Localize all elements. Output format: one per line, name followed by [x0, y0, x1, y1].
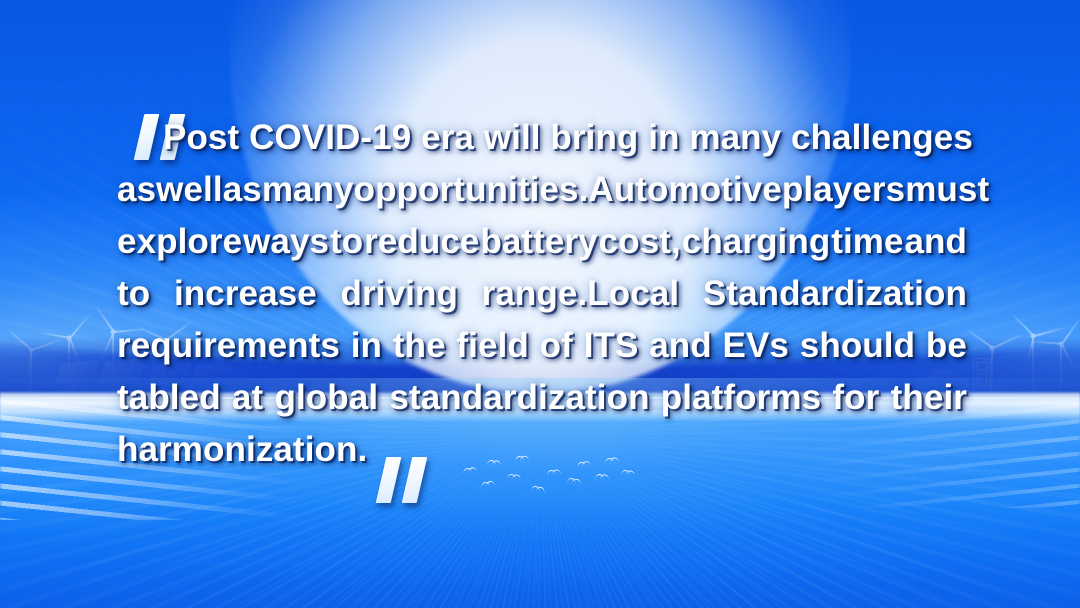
- quote-word: Standardization: [703, 268, 967, 320]
- quote-word: time: [831, 216, 903, 268]
- quote-word: charging: [682, 216, 831, 268]
- quote-word: increase: [174, 268, 317, 320]
- quote-word: reduce: [364, 216, 479, 268]
- quote-word: ways: [243, 216, 329, 268]
- turbine-blade: [1025, 336, 1035, 365]
- quote-word: for: [832, 372, 879, 424]
- bird-icon: [480, 481, 490, 489]
- turbine-blade: [1032, 340, 1062, 345]
- bird-icon: [531, 485, 541, 492]
- turbine-hub: [990, 346, 995, 351]
- turbine-blade: [968, 330, 994, 349]
- quote-word: and: [649, 320, 712, 372]
- quote-line: aswellasmanyopportunities.Automotiveplay…: [117, 164, 967, 216]
- quote-word: platforms: [661, 372, 821, 424]
- quote-line: explorewaystoreducebatterycost,chargingt…: [117, 216, 967, 268]
- quote-line: tabledatglobalstandardizationplatformsfo…: [117, 372, 967, 424]
- charger-screen: [976, 362, 988, 371]
- quote-text-block: Post COVID-19 era will bring in many cha…: [117, 112, 967, 476]
- quote-word: battery: [480, 216, 597, 268]
- quote-word: and: [904, 216, 967, 268]
- quote-word: their: [891, 372, 967, 424]
- quote-word: players: [782, 164, 905, 216]
- quote-word: to: [117, 268, 150, 320]
- turbine-blade: [100, 332, 114, 360]
- quote-word: requirements: [117, 320, 340, 372]
- bird-icon: [567, 477, 577, 484]
- quote-word: EVs: [723, 320, 789, 372]
- turbine-hub: [111, 330, 116, 335]
- quote-word: opportunities.Automotive: [354, 164, 782, 216]
- close-quote-icon: [381, 457, 445, 507]
- turbine-blade: [1034, 327, 1063, 337]
- quote-word: should: [800, 320, 915, 372]
- turbine-blade: [32, 339, 61, 351]
- turbine-blade: [1061, 319, 1080, 345]
- turbine-blade: [8, 330, 32, 351]
- quote-bar: [402, 457, 428, 503]
- quote-word: global: [275, 372, 379, 424]
- panel-grid-line: [59, 369, 95, 374]
- turbine-blade: [69, 314, 90, 338]
- quote-word: to: [330, 216, 363, 268]
- quote-word: explore: [117, 216, 242, 268]
- quote-slide: Post COVID-19 era will bring in many cha…: [0, 0, 1080, 608]
- quote-word: many: [262, 164, 354, 216]
- quote-word: well: [156, 164, 223, 216]
- quote-word: the: [393, 320, 446, 372]
- turbine-blade: [1012, 314, 1035, 337]
- turbine-blade: [1061, 344, 1075, 372]
- quote-line: toincreasedrivingrange.LocalStandardizat…: [117, 268, 967, 320]
- quote-word: tabled: [117, 372, 221, 424]
- quote-word: cost,: [599, 216, 681, 268]
- quote-word: field: [456, 320, 528, 372]
- quote-word: standardization: [389, 372, 649, 424]
- turbine-blade: [69, 338, 81, 367]
- quote-word: as: [223, 164, 262, 216]
- quote-word: of: [540, 320, 573, 372]
- turbine-blade: [40, 332, 70, 339]
- quote-line: harmonization.: [117, 424, 967, 476]
- quote-word: be: [926, 320, 967, 372]
- quote-line-text: harmonization.: [117, 430, 367, 469]
- quote-line-text: Post COVID-19 era will bring in many cha…: [163, 118, 973, 157]
- quote-word: in: [351, 320, 382, 372]
- turbine-blade: [989, 348, 994, 378]
- quote-word: at: [232, 372, 263, 424]
- turbine-blade: [26, 350, 33, 380]
- turbine-hub: [1059, 342, 1064, 347]
- quote-word: driving: [341, 268, 458, 320]
- quote-word: must: [905, 164, 989, 216]
- quote-word: range.Local: [482, 268, 680, 320]
- turbine-blade: [993, 334, 1021, 348]
- turbine-blade: [96, 307, 115, 333]
- quote-word: as: [117, 164, 156, 216]
- turbine-hub: [29, 348, 34, 353]
- quote-line: Post COVID-19 era will bring in many cha…: [117, 112, 967, 164]
- turbine-hub: [67, 336, 72, 341]
- quote-line: requirementsinthefieldofITSandEVsshouldb…: [117, 320, 967, 372]
- turbine-hub: [1031, 334, 1036, 339]
- quote-word: ITS: [584, 320, 639, 372]
